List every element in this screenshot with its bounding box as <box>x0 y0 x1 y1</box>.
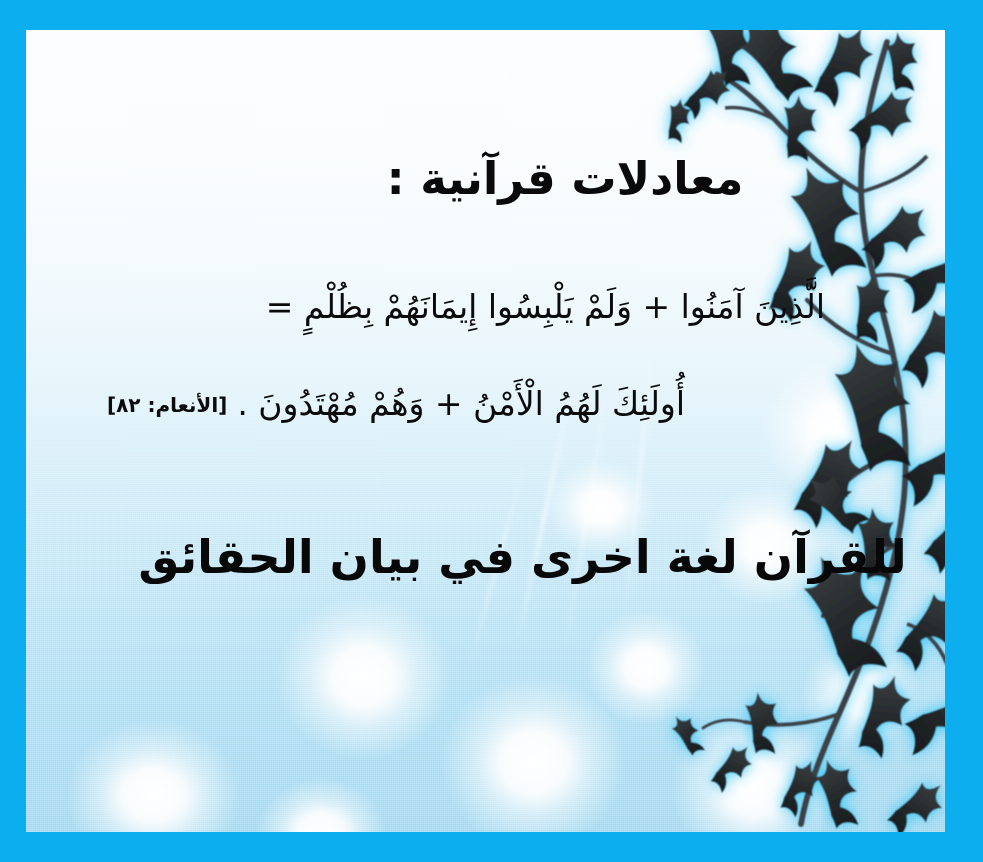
equation-line-2-row: أُولَئِكَ لَهُمُ الْأَمْنُ + وَهُمْ مُهْ… <box>26 382 945 427</box>
poster-canvas: معادلات قرآنية : الَّذِينَ آمَنُوا + وَل… <box>26 30 945 832</box>
headline-text: للقرآن لغة اخرى في بيان الحقائق <box>100 530 945 584</box>
poster-content: معادلات قرآنية : الَّذِينَ آمَنُوا + وَل… <box>26 30 945 832</box>
equation-line-2: أُولَئِكَ لَهُمُ الْأَمْنُ + وَهُمْ مُهْ… <box>237 384 685 423</box>
poster-root: معادلات قرآنية : الَّذِينَ آمَنُوا + وَل… <box>0 0 983 862</box>
verse-citation: [الأنعام: ٨٢] <box>107 393 227 417</box>
equation-line-1: الَّذِينَ آمَنُوا + وَلَمْ يَلْبِسُوا إِ… <box>26 285 945 330</box>
page-title: معادلات قرآنية : <box>185 152 945 205</box>
